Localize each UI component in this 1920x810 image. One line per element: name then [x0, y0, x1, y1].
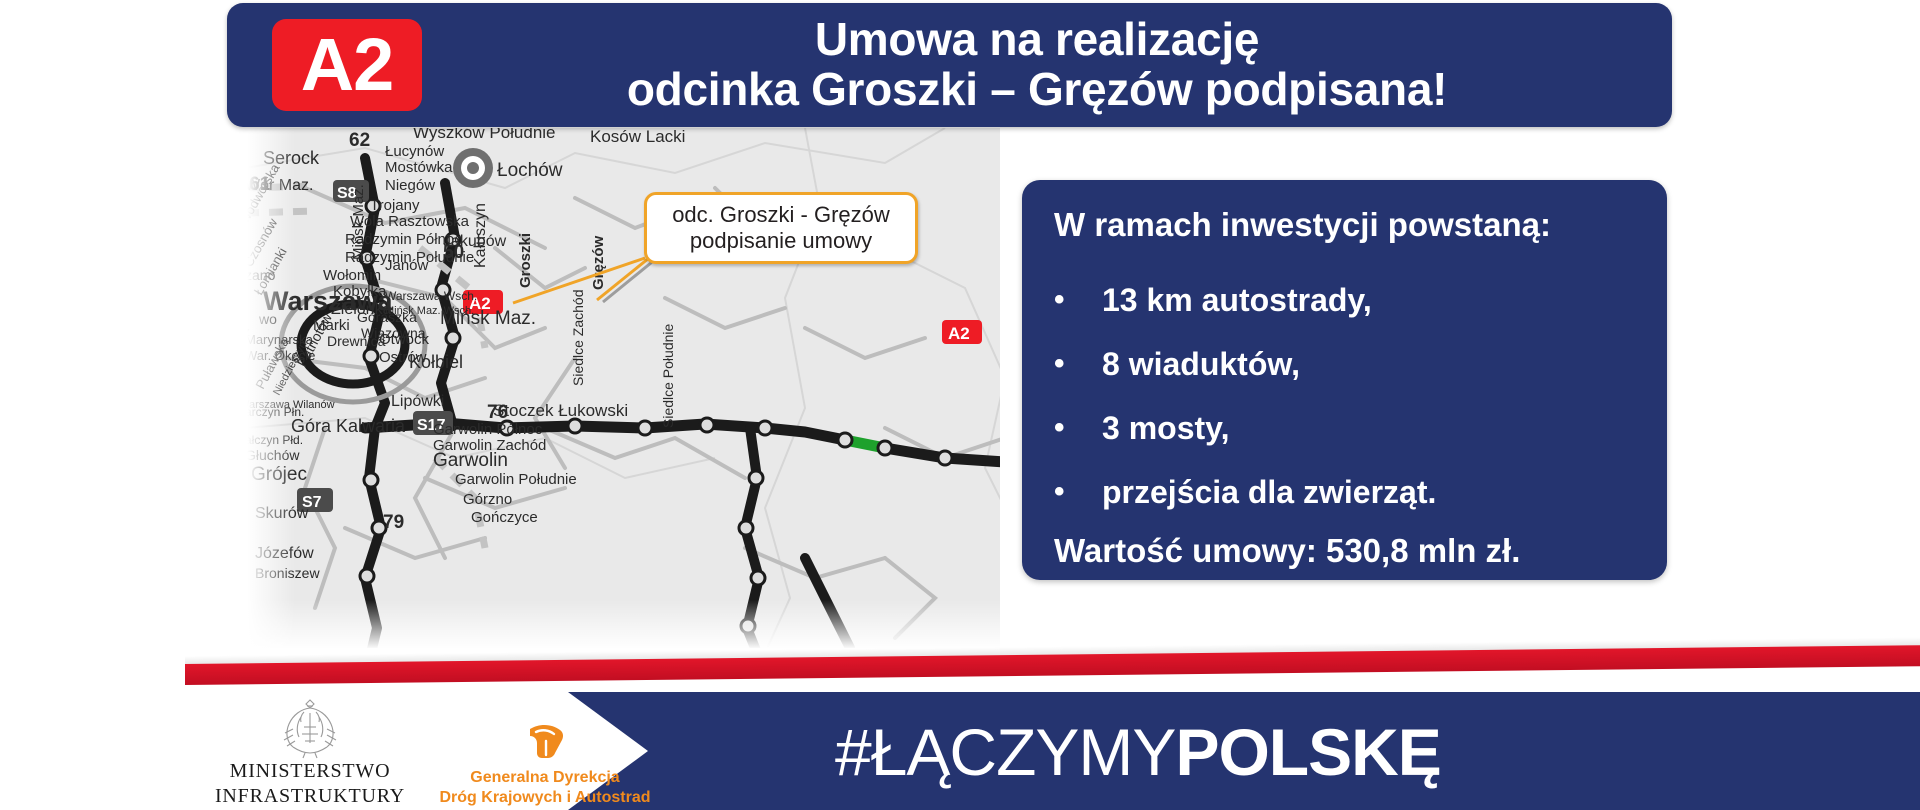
svg-text:Warszawa Wsch.: Warszawa Wsch. [385, 289, 477, 303]
investment-details-panel: W ramach inwestycji powstaną: • 13 km au… [1022, 180, 1667, 580]
gddkia-line-1: Generalna Dyrekcja [470, 768, 619, 788]
svg-text:Górzno: Górzno [463, 491, 512, 508]
gddkia-line-2: Dróg Krajowych i Autostrad [440, 788, 651, 808]
campaign-hashtag: #ŁĄCZYMY POLSKĘ [835, 702, 1665, 802]
svg-text:Janów: Janów [385, 257, 429, 274]
map-callout: odc. Groszki - Gręzów podpisanie umowy [644, 192, 918, 264]
svg-text:zano: zano [245, 267, 276, 283]
bullet-icon: • [1054, 396, 1102, 460]
svg-text:Gręzów: Gręzów [590, 235, 607, 290]
svg-text:Garwolin: Garwolin [433, 450, 508, 471]
svg-text:Niegów: Niegów [385, 177, 435, 194]
list-item: • przejścia dla zwierząt. [1054, 460, 1654, 524]
list-item-label: 8 wiaduktów, [1102, 332, 1300, 396]
svg-text:Mostówka: Mostówka [385, 159, 453, 176]
polish-eagle-icon [271, 697, 349, 759]
bullet-icon: • [1054, 332, 1102, 396]
svg-text:Głuchów: Głuchów [245, 447, 300, 463]
title-line-2: odcinka Groszki – Gręzów podpisana! [627, 65, 1447, 115]
svg-text:Góra Kalwaria: Góra Kalwaria [291, 416, 406, 436]
svg-text:62: 62 [349, 130, 370, 151]
svg-text:A2: A2 [948, 324, 970, 343]
gddkia-bird-icon [522, 721, 568, 765]
svg-text:79: 79 [383, 512, 404, 533]
list-item: • 8 wiaduktów, [1054, 332, 1654, 396]
svg-text:Lipówki: Lipówki [391, 393, 444, 410]
svg-text:Garwolin Południe: Garwolin Południe [455, 471, 577, 488]
investment-heading: W ramach inwestycji powstaną: [1054, 206, 1654, 244]
svg-text:Józefów: Józefów [255, 545, 314, 562]
callout-line-1: odc. Groszki - Gręzów [672, 202, 890, 228]
ministry-line-2: INFRASTRUKTURY [215, 784, 405, 808]
svg-text:Mińsk Maz.: Mińsk Maz. [350, 184, 367, 260]
svg-text:Garwolin Północ: Garwolin Północ [433, 421, 543, 438]
svg-text:Gończyce: Gończyce [471, 509, 538, 526]
svg-text:Siedlce Południe: Siedlce Południe [660, 323, 676, 428]
svg-text:Broniszew: Broniszew [255, 565, 320, 581]
svg-text:wo: wo [258, 311, 277, 327]
svg-text:Grójec: Grójec [251, 464, 307, 485]
svg-text:Siedlce Zachód: Siedlce Zachód [570, 289, 586, 386]
ministry-logo: MINISTERSTWO INFRASTRUKTURY [215, 696, 405, 808]
svg-text:Otwock: Otwock [379, 331, 430, 348]
bullet-icon: • [1054, 268, 1102, 332]
page-title: Umowa na realizację odcinka Groszki – Gr… [447, 9, 1627, 121]
footer-bar: MINISTERSTWO INFRASTRUKTURY Generalna Dy… [0, 648, 1920, 810]
infographic-poster: 62 61 S8 50 A2 S17 76 S19 S19 A2 79 S7 W… [0, 0, 1920, 810]
ministry-line-1: MINISTERSTWO [230, 759, 391, 783]
hashtag-bold-part: POLSKĘ [1175, 714, 1440, 790]
list-item-label: przejścia dla zwierząt. [1102, 460, 1436, 524]
svg-text:Wyszków Południe: Wyszków Południe [413, 128, 556, 142]
bullet-icon: • [1054, 460, 1102, 524]
svg-text:Skurów: Skurów [255, 505, 309, 522]
road-badge-a2: A2 [272, 19, 422, 111]
list-item-label: 3 mosty, [1102, 396, 1229, 460]
hashtag-light-part: #ŁĄCZYMY [835, 714, 1175, 790]
list-item-label: 13 km autostrady, [1102, 268, 1372, 332]
title-line-1: Umowa na realizację [815, 15, 1259, 65]
svg-text:Mińsk Maz. Wsch.: Mińsk Maz. Wsch. [385, 305, 474, 317]
svg-text:Kołbiel: Kołbiel [409, 352, 463, 372]
contract-value: Wartość umowy: 530,8 mln zł. [1054, 532, 1654, 570]
svg-text:Stoczek Łukowski: Stoczek Łukowski [493, 401, 628, 420]
svg-text:Trojany: Trojany [370, 197, 420, 214]
title-banner: A2 Umowa na realizację odcinka Groszki –… [227, 3, 1672, 127]
road-badge-label: A2 [301, 28, 394, 102]
lochow-node [453, 148, 493, 188]
svg-text:Kałuszyn: Kałuszyn [472, 203, 489, 268]
list-item: • 3 mosty, [1054, 396, 1654, 460]
callout-line-2: podpisanie umowy [690, 228, 872, 254]
svg-text:Łucynów: Łucynów [385, 143, 444, 160]
svg-text:Wola Rasztowska: Wola Rasztowska [350, 213, 470, 230]
investment-list: • 13 km autostrady, • 8 wiaduktów, • 3 m… [1054, 268, 1654, 524]
svg-text:Groszki: Groszki [517, 233, 534, 288]
list-item: • 13 km autostrady, [1054, 268, 1654, 332]
shield-a2-east: A2 [942, 320, 982, 344]
svg-text:Wołomin: Wołomin [323, 267, 381, 284]
svg-text:Kosów Lacki: Kosów Lacki [590, 128, 685, 146]
gddkia-logo: Generalna Dyrekcja Dróg Krajowych i Auto… [420, 700, 670, 808]
svg-text:Łochów: Łochów [497, 160, 563, 181]
